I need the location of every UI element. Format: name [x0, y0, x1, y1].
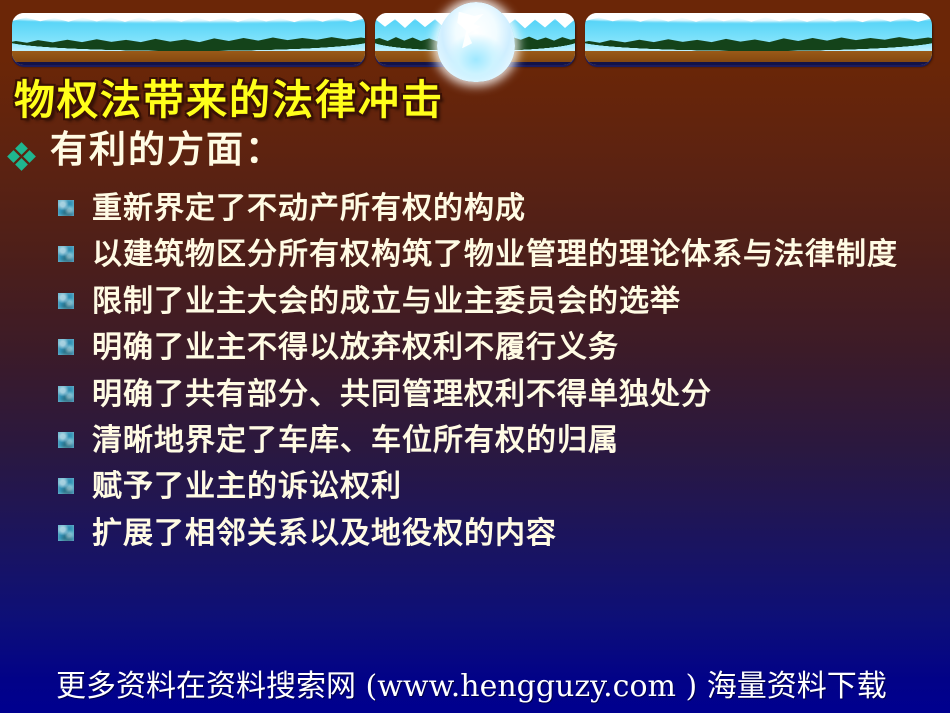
square-bullet-icon [58, 246, 74, 262]
list-item: 清晰地界定了车库、车位所有权的归属 [58, 422, 944, 460]
level1-bullet-label: 有利的方面： [50, 130, 284, 171]
landscape-banner-left [12, 13, 365, 65]
square-bullet-icon [58, 432, 74, 448]
square-bullet-icon [58, 386, 74, 402]
diamond-cluster-bullet-icon [8, 142, 36, 170]
square-bullet-icon [58, 200, 74, 216]
list-item-label: 明确了业主不得以放弃权利不履行义务 [92, 329, 619, 367]
presentation-slide: 物权法带来的法律冲击 有利的方面： 重新界定了不动产所有权的构成 以建筑物区分所… [0, 0, 950, 713]
list-item-label: 明确了共有部分、共同管理权利不得单独处分 [92, 376, 712, 414]
list-item: 限制了业主大会的成立与业主委员会的选举 [58, 283, 944, 321]
banner-gloss-highlight [16, 15, 362, 22]
banner-ground [585, 51, 932, 65]
list-item-label: 赋予了业主的诉讼权利 [92, 468, 402, 506]
list-item: 明确了业主不得以放弃权利不履行义务 [58, 329, 944, 367]
banner-gloss-highlight [588, 15, 928, 22]
list-item: 以建筑物区分所有权构筑了物业管理的理论体系与法律制度 [58, 236, 944, 274]
list-item-label: 清晰地界定了车库、车位所有权的归属 [92, 422, 619, 460]
square-bullet-icon [58, 293, 74, 309]
square-bullet-icon [58, 478, 74, 494]
bullet-list: 重新界定了不动产所有权的构成 以建筑物区分所有权构筑了物业管理的理论体系与法律制… [58, 190, 944, 561]
landscape-banner-right [585, 13, 932, 65]
list-item: 重新界定了不动产所有权的构成 [58, 190, 944, 228]
banner-ground [12, 51, 365, 65]
list-item-label: 扩展了相邻关系以及地役权的内容 [92, 515, 557, 553]
list-item: 扩展了相邻关系以及地役权的内容 [58, 515, 944, 553]
page-title: 物权法带来的法律冲击 [14, 66, 444, 126]
list-item-label: 限制了业主大会的成立与业主委员会的选举 [92, 283, 681, 321]
list-item: 明确了共有部分、共同管理权利不得单独处分 [58, 376, 944, 414]
list-item-label: 以建筑物区分所有权构筑了物业管理的理论体系与法律制度 [92, 236, 898, 274]
footer-watermark: 更多资料在资料搜索网 (www.hengguzy.com ) 海量资料下载 [56, 661, 887, 705]
level1-bullet-row: 有利的方面： [8, 130, 284, 171]
glowing-globe-icon [437, 2, 515, 82]
square-bullet-icon [58, 339, 74, 355]
square-bullet-icon [58, 525, 74, 541]
list-item: 赋予了业主的诉讼权利 [58, 468, 944, 506]
list-item-label: 重新界定了不动产所有权的构成 [92, 190, 526, 228]
